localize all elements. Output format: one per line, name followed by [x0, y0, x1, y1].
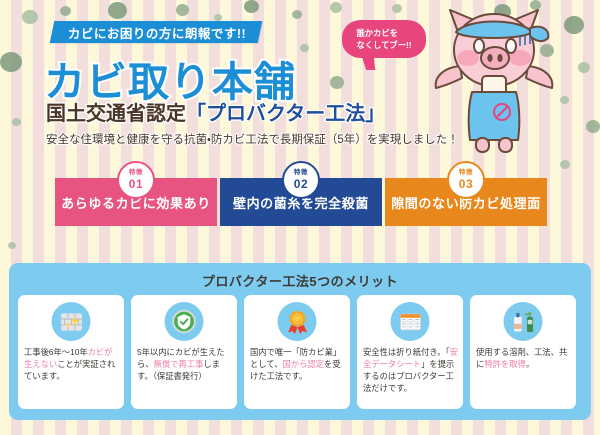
- feature-badge-label-03: 特徴: [459, 170, 473, 177]
- merit-card-text: 5年以内にカビが生えたら、無償で再工事します。（保証書発行）: [137, 346, 232, 382]
- award-medal-icon: [278, 302, 317, 341]
- mold-spot: [0, 52, 22, 72]
- pig-mascot: [424, 2, 564, 162]
- feature-number-circle-03: 特徴 03: [447, 161, 485, 199]
- mold-spot: [578, 62, 590, 73]
- merit-plain-text: 工事後6年〜10年: [24, 347, 88, 357]
- spray-bottles-icon: [504, 302, 543, 341]
- mold-spot: [214, 14, 222, 21]
- merits-panel: プロバクター工法5つのメリット 工事後6年〜10年カビが生えないことが実証されて…: [9, 263, 591, 420]
- mold-spot: [244, 0, 259, 13]
- merit-plain-text: 。: [526, 359, 534, 369]
- brick-wall-sparkle-icon: [52, 302, 91, 341]
- merit-card[interactable]: 使用する溶剤、工法、共に特許を取得。: [470, 295, 576, 409]
- mold-spot: [586, 120, 600, 133]
- subtitle: 国土交通省認定「プロバクター工法」: [46, 97, 385, 126]
- feature-badge-number-01: 01: [129, 178, 144, 190]
- merit-card[interactable]: 工事後6年〜10年カビが生えないことが実証されています。: [18, 295, 124, 409]
- mold-spot: [300, 44, 309, 52]
- document-table-icon: [391, 302, 430, 341]
- merit-card-list: 工事後6年〜10年カビが生えないことが実証されています。5年以内にカビが生えたら…: [18, 295, 576, 409]
- mold-spot: [330, 76, 344, 89]
- feature-number-circle-01: 特徴 01: [117, 161, 155, 199]
- merit-card-text: 工事後6年〜10年カビが生えないことが実証されています。: [24, 346, 119, 382]
- feature-badge-02[interactable]: 特徴 02 壁内の菌糸を完全殺菌: [220, 178, 382, 226]
- announcement-ribbon: カビにお困りの方に朗報です!!: [50, 21, 263, 43]
- merit-highlight-text: 特許を取得: [484, 359, 526, 369]
- mold-spot: [60, 6, 71, 16]
- mold-spot: [12, 118, 21, 126]
- feature-badge-label-02: 特徴: [294, 170, 308, 177]
- feature-badge-label-01: 特徴: [129, 170, 143, 177]
- mascot-speech-bubble: 誰かカビを なくしてブー!!: [342, 20, 426, 58]
- merit-card[interactable]: 国内で唯一「防カビ業」として、国から認定を受けた工法です。: [244, 295, 350, 409]
- feature-badge-03[interactable]: 特徴 03 隙間のない防カビ処理面: [385, 178, 547, 226]
- mascot-speech-text: 誰かカビを なくしてブー!!: [356, 27, 411, 52]
- merit-plain-text: 安全性は折り紙付き。「: [363, 347, 450, 357]
- mold-spot: [564, 16, 584, 34]
- merit-highlight-text: 無償で再工事: [154, 359, 204, 369]
- merit-card[interactable]: 5年以内にカビが生えたら、無償で再工事します。（保証書発行）: [131, 295, 237, 409]
- lead-text: 安全な住環境と健康を守る抗菌・防カビ工法で長期保証（5年）を実現しました！: [46, 131, 459, 147]
- mold-spot: [330, 2, 342, 13]
- mold-spot: [8, 242, 16, 249]
- shield-check-icon: [165, 302, 204, 341]
- merit-card[interactable]: 安全性は折り紙付き。「安全データシート」を提示するのはプロバクター工法だけです。: [357, 295, 463, 409]
- feature-badge-number-02: 02: [294, 178, 309, 190]
- mold-spot: [392, 4, 402, 13]
- mold-spot: [176, 4, 189, 16]
- merit-highlight-text: 国から認定: [283, 359, 325, 369]
- mold-spot: [292, 10, 302, 19]
- mold-spot: [108, 2, 127, 19]
- merits-panel-title: プロバクター工法5つのメリット: [9, 271, 591, 290]
- subtitle-certification: 国土交通省認定: [46, 103, 186, 125]
- feature-number-circle-02: 特徴 02: [282, 161, 320, 199]
- feature-badge-number-03: 03: [459, 178, 474, 190]
- merit-card-text: 安全性は折り紙付き。「安全データシート」を提示するのはプロバクター工法だけです。: [363, 346, 458, 394]
- announcement-ribbon-label: カビにお困りの方に朗報です!!: [68, 23, 246, 42]
- subtitle-method-name: 「プロバクター工法」: [186, 103, 385, 125]
- mold-spot: [22, 10, 38, 24]
- merit-card-text: 国内で唯一「防カビ業」として、国から認定を受けた工法です。: [250, 346, 345, 382]
- merit-card-text: 使用する溶剤、工法、共に特許を取得。: [476, 346, 571, 370]
- page-root: カビにお困りの方に朗報です!! カビ取り本舗 国土交通省認定「プロバクター工法」…: [0, 0, 600, 435]
- feature-badge-01[interactable]: 特徴 01 あらゆるカビに効果あり: [55, 178, 217, 226]
